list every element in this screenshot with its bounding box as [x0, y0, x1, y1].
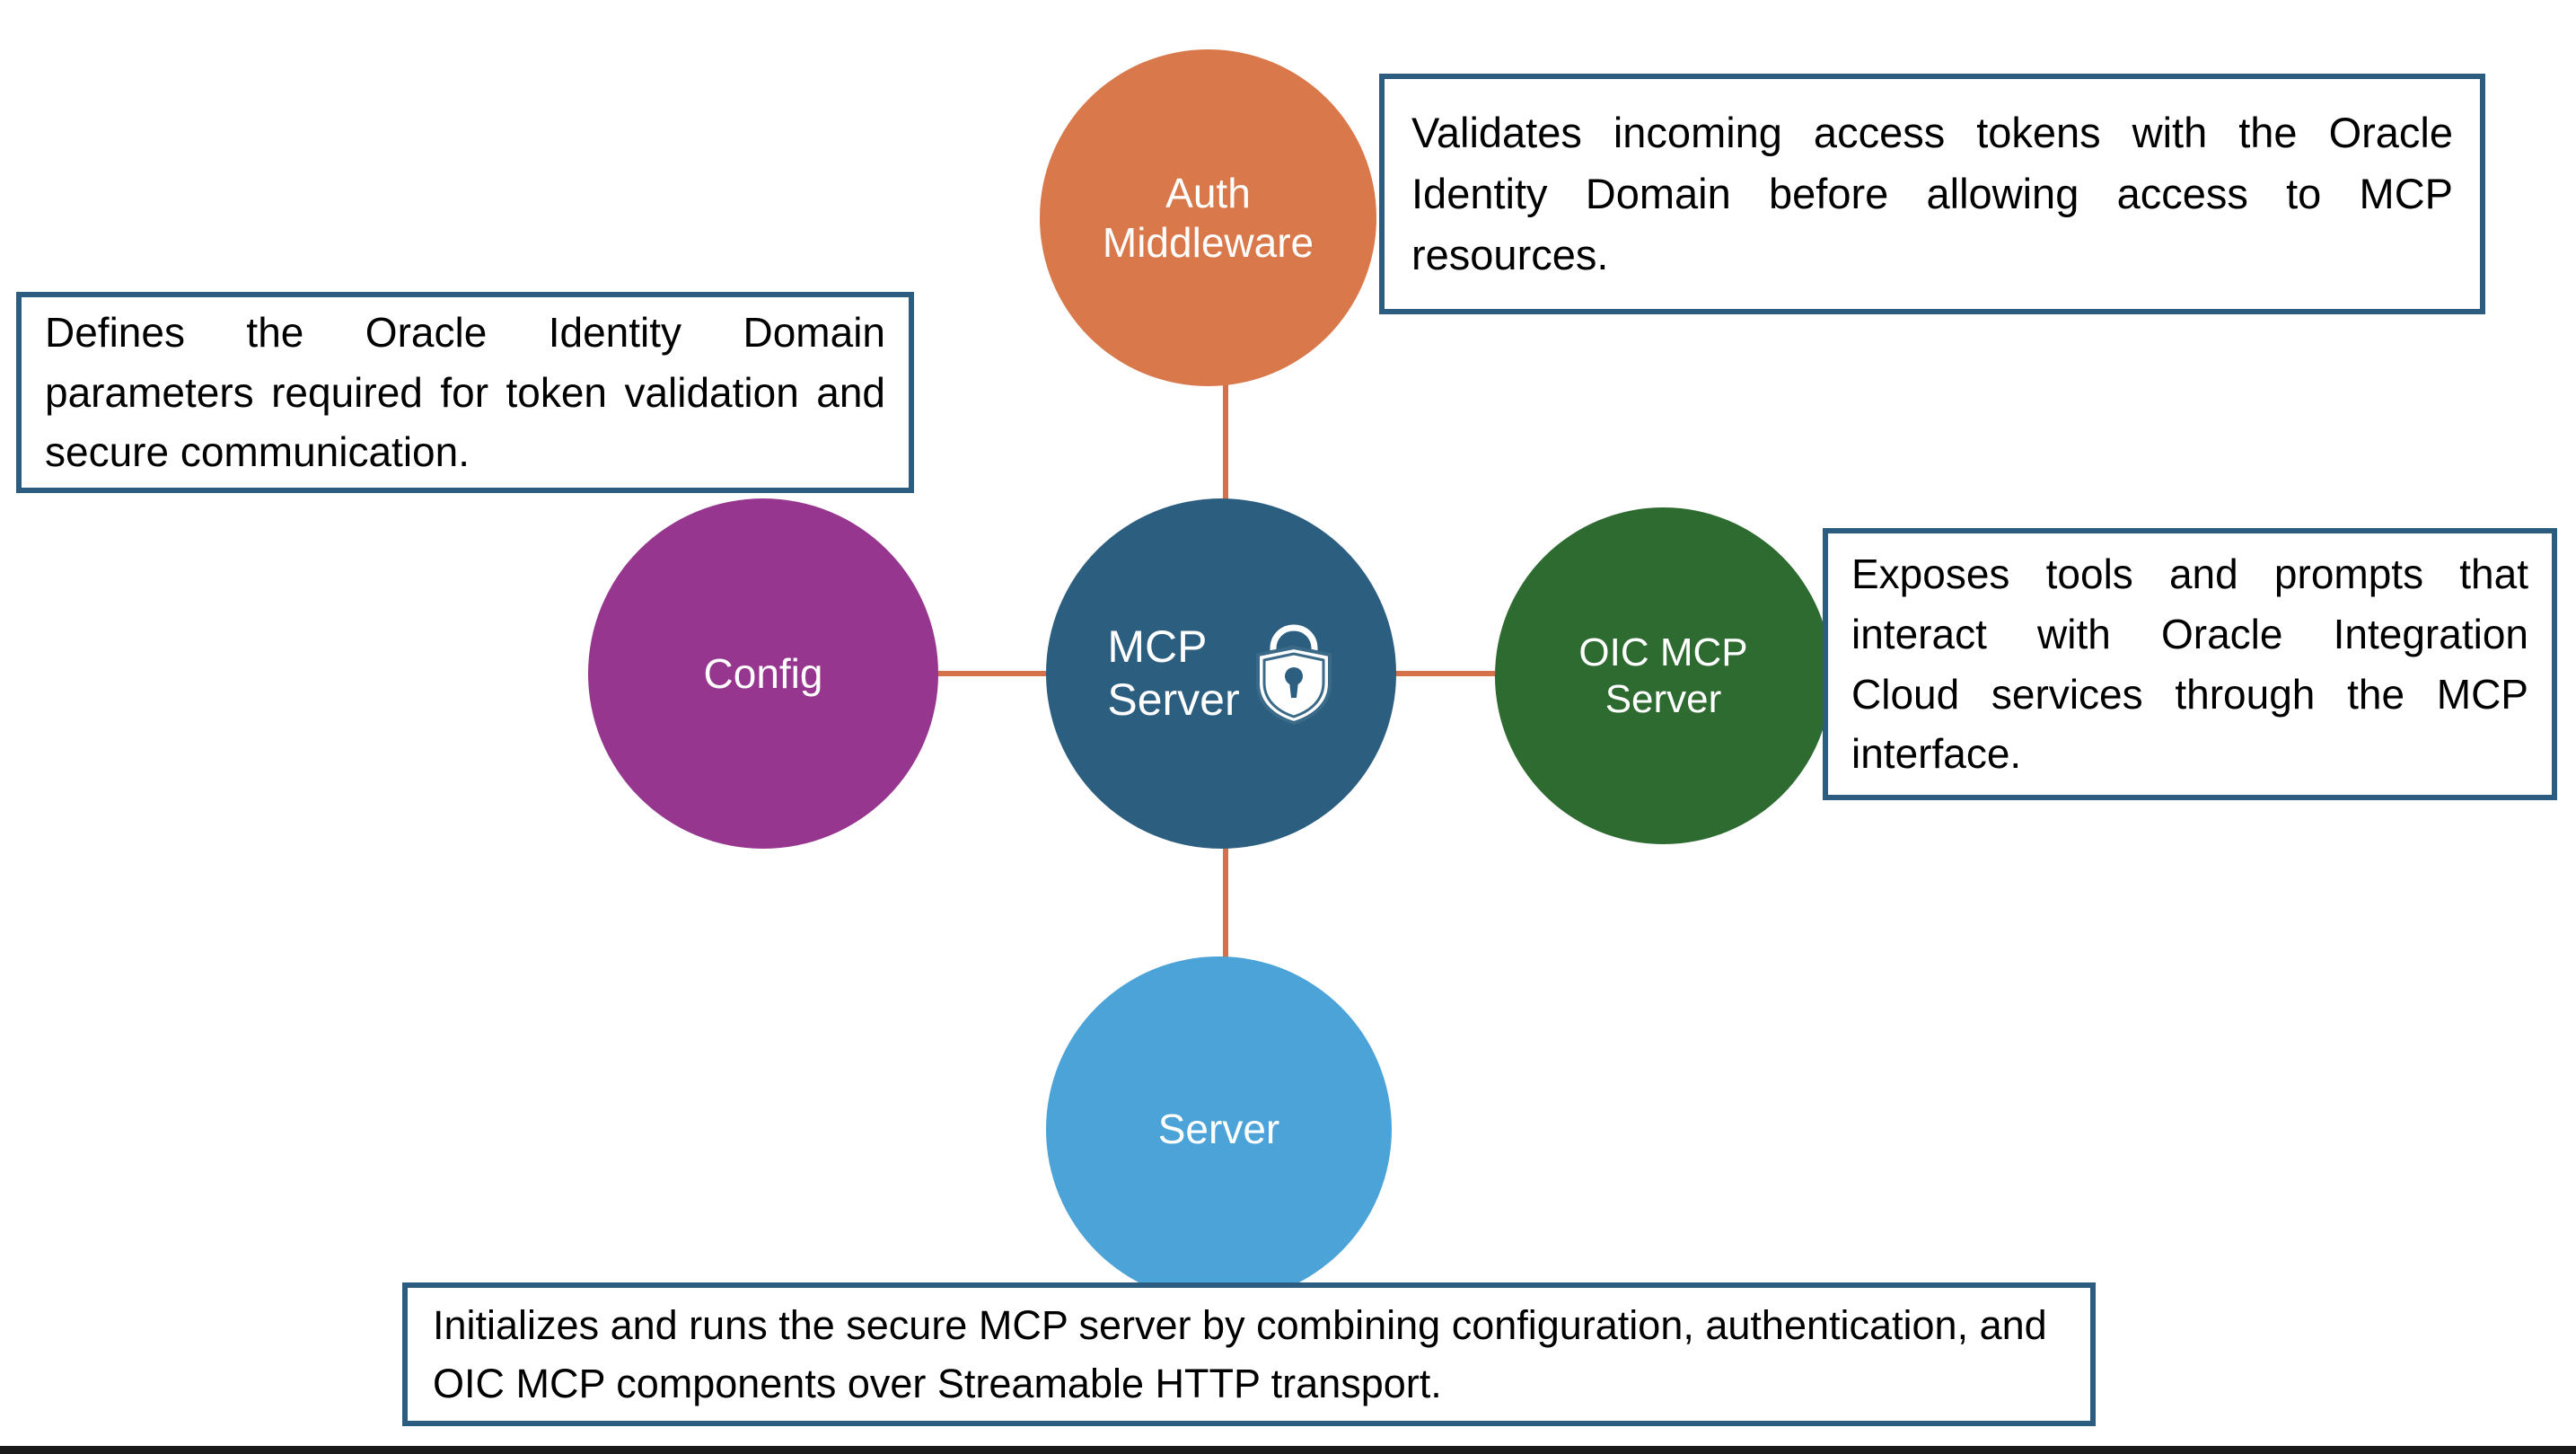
- callout-auth-middleware-text: Validates incoming access tokens with th…: [1411, 102, 2453, 286]
- node-server-label: Server: [1158, 1105, 1279, 1153]
- node-config[interactable]: Config: [588, 498, 938, 849]
- node-mcp-server-label: MCP Server: [1107, 621, 1239, 727]
- callout-auth-middleware: Validates incoming access tokens with th…: [1379, 74, 2485, 314]
- page-bottom-border: [0, 1446, 2576, 1454]
- diagram-canvas: Auth Middleware Config MCP Server OIC MC…: [0, 0, 2576, 1454]
- callout-oic-mcp-server: Exposes tools and prompts that interact …: [1823, 528, 2557, 800]
- connector-mcp-to-server: [1223, 844, 1228, 961]
- connector-mcp-to-oic: [1387, 671, 1495, 676]
- callout-server-text: Initializes and runs the secure MCP serv…: [433, 1296, 2065, 1414]
- node-mcp-server[interactable]: MCP Server: [1046, 498, 1396, 849]
- node-config-label: Config: [704, 649, 823, 698]
- node-oic-mcp-server-label: OIC MCP Server: [1578, 630, 1747, 723]
- callout-config: Defines the Oracle Identity Domain param…: [16, 292, 914, 493]
- node-server[interactable]: Server: [1046, 956, 1392, 1302]
- shield-lock-icon: [1253, 621, 1335, 727]
- node-auth-middleware-label: Auth Middleware: [1103, 169, 1314, 267]
- node-auth-middleware[interactable]: Auth Middleware: [1040, 49, 1376, 386]
- callout-server: Initializes and runs the secure MCP serv…: [402, 1282, 2096, 1426]
- node-oic-mcp-server[interactable]: OIC MCP Server: [1495, 507, 1832, 844]
- callout-oic-mcp-server-text: Exposes tools and prompts that interact …: [1851, 544, 2528, 784]
- callout-config-text: Defines the Oracle Identity Domain param…: [45, 303, 885, 482]
